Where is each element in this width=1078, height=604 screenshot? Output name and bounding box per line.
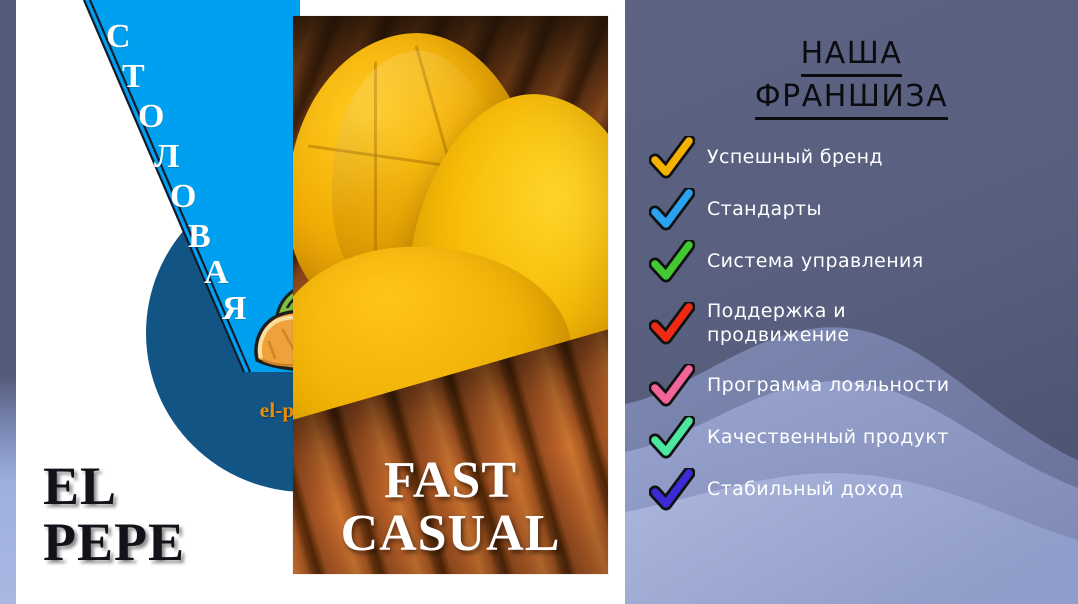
panel-content: НАША ФРАНШИЗА Успешный бренд [625, 0, 1078, 604]
check-icon [649, 302, 695, 346]
list-item-label: Поддержка и продвижение [707, 300, 849, 347]
brand-wordmark: EL PEPE [43, 458, 273, 570]
list-item: Успешный бренд [643, 132, 1060, 184]
list-item-label: Качественный продукт [707, 426, 949, 450]
list-item-label: Успешный бренд [707, 146, 883, 170]
vertical-band-title: С Т О Л О В А Я [96, 6, 296, 296]
caption-line-1: FAST [293, 454, 608, 507]
panel-title-line-2: ФРАНШИЗА [755, 77, 948, 120]
band-letter: В [188, 220, 211, 254]
left-accent-strip [0, 0, 16, 604]
list-item: Стандарты [643, 184, 1060, 236]
list-item: Программа лояльности [643, 360, 1060, 412]
list-item: Стабильный доход [643, 464, 1060, 516]
list-item-label: Стабильный доход [707, 478, 903, 502]
list-item-label: Стандарты [707, 198, 822, 222]
list-item: Система управления [643, 236, 1060, 288]
panel-title: НАША ФРАНШИЗА [643, 34, 1060, 120]
check-icon [649, 136, 695, 180]
photo-caption: FAST CASUAL [293, 454, 608, 560]
band-letter: С [106, 20, 131, 54]
check-icon [649, 188, 695, 232]
caption-line-2: CASUAL [293, 507, 608, 560]
check-icon [649, 240, 695, 284]
check-icon [649, 416, 695, 460]
interior-photo: FAST CASUAL [293, 16, 608, 574]
franchise-panel: НАША ФРАНШИЗА Успешный бренд [625, 0, 1078, 604]
brand-line-2: PEPE [43, 514, 273, 570]
slide-canvas: С Т О Л О В А Я [0, 0, 1078, 604]
band-letter: О [138, 100, 164, 134]
franchise-benefits-list: Успешный бренд Стандарты [643, 132, 1060, 516]
list-item: Поддержка и продвижение [643, 288, 1060, 360]
band-letter: О [170, 180, 196, 214]
check-icon [649, 468, 695, 512]
brand-line-1: EL [43, 458, 273, 514]
band-letter: А [204, 256, 229, 290]
list-item: Качественный продукт [643, 412, 1060, 464]
band-letter: Т [122, 60, 145, 94]
list-item-label: Система управления [707, 250, 924, 274]
list-item-label: Программа лояльности [707, 374, 949, 398]
panel-title-line-1: НАША [801, 34, 903, 77]
band-letter: Л [154, 140, 179, 174]
check-icon [649, 364, 695, 408]
